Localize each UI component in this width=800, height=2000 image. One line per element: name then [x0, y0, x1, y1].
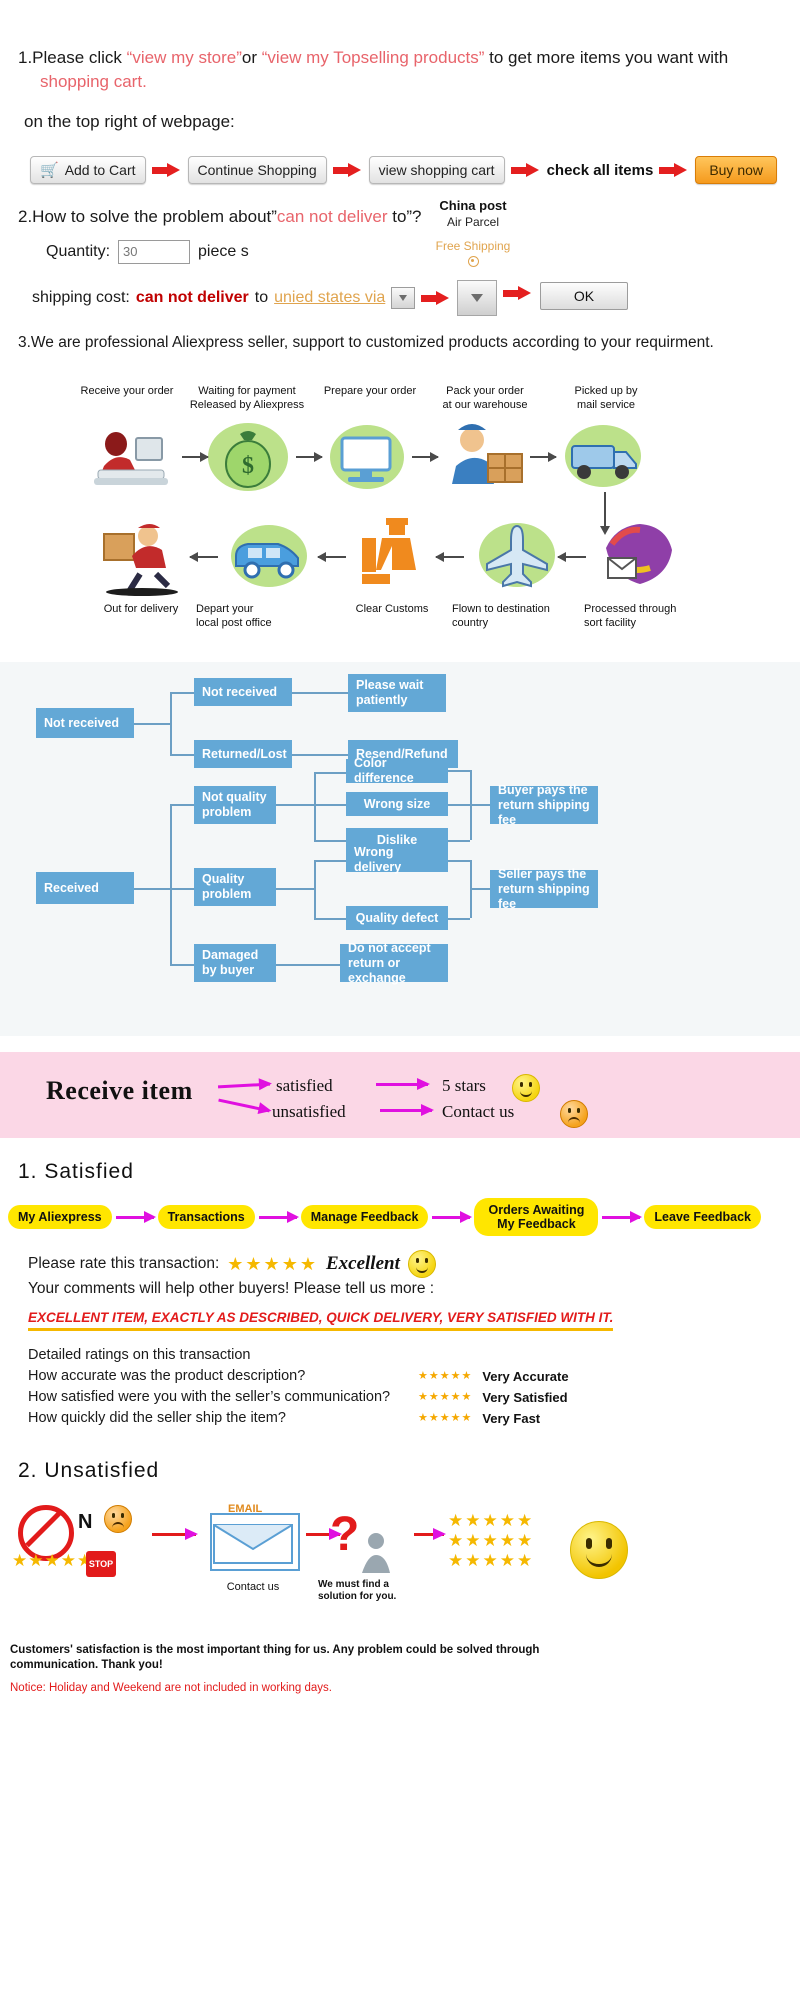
ok-label: OK: [574, 288, 594, 304]
unsatisfied-row: ★★★★★ N STOP EMAIL Contact us ? We must …: [0, 1489, 800, 1639]
detail-value-2: Very Fast: [482, 1408, 540, 1429]
fc-line-26: [448, 860, 470, 862]
star-row-2: ★★★★★: [448, 1551, 534, 1571]
star-row-0: ★★★★★: [448, 1511, 534, 1531]
section1-text-pre: 1.Please click: [18, 48, 127, 67]
check-all-items-label: check all items: [547, 162, 654, 179]
page-root: 1.Please click “view my store”or “view m…: [0, 0, 800, 2000]
worried-face-icon: [104, 1505, 132, 1533]
fc-line-10: [170, 888, 194, 890]
table-row: How satisfied were you with the seller’s…: [28, 1387, 800, 1408]
flow-arrow-2: [296, 456, 322, 458]
star-row-1: ★★★★★: [448, 1531, 534, 1551]
fc-line-22: [276, 888, 314, 890]
fc-line-6: [292, 754, 348, 756]
fc-color-difference: Color difference: [346, 759, 448, 783]
free-shipping-label: Free Shipping: [418, 239, 528, 253]
fc-line-27: [448, 918, 470, 920]
fc-line-2: [170, 692, 172, 754]
detail-question-2: How quickly did the seller ship the item…: [28, 1408, 418, 1429]
unsat-arrow-3: [414, 1533, 444, 1536]
flow-label-bottom-0: Out for delivery: [76, 602, 206, 616]
fc-line-8: [170, 804, 172, 964]
fc-received-root: Received: [36, 872, 134, 904]
solution-text: We must find a solution for you.: [318, 1579, 408, 1603]
table-row: How quickly did the seller ship the item…: [28, 1408, 800, 1429]
banner-unsatisfied: unsatisfied: [272, 1102, 346, 1122]
arrow-right-icon-2: [333, 163, 363, 177]
unsat-star-grid: ★★★★★ ★★★★★ ★★★★★: [448, 1511, 534, 1571]
detail-stars-0: ★★★★★: [418, 1371, 472, 1382]
banner-satisfied: satisfied: [276, 1076, 333, 1096]
rate-label: Please rate this transaction:: [28, 1253, 219, 1275]
step-my-aliexpress[interactable]: My Aliexpress: [8, 1205, 112, 1229]
fc-line-15: [314, 804, 346, 806]
fc-quality-defect: Quality defect: [346, 906, 448, 930]
receive-item-banner: Receive item satisfied unsatisfied 5 sta…: [0, 1052, 800, 1138]
arrow-right-icon-3: [511, 163, 541, 177]
view-cart-label: view shopping cart: [379, 162, 495, 178]
step-arrow-3: [432, 1216, 470, 1219]
comment-text: EXCELLENT ITEM, EXACTLY AS DESCRIBED, QU…: [28, 1310, 613, 1331]
detail-stars-1: ★★★★★: [418, 1392, 472, 1403]
flow-arrow-6: [318, 556, 346, 558]
arrow-right-icon-6: [503, 286, 533, 300]
fc-line-12: [276, 804, 314, 806]
shipping-flow-diagram: $: [0, 374, 800, 654]
fc-not-received-2: Not received: [194, 678, 292, 706]
letter-n-label: N: [78, 1511, 92, 1534]
rating-block: Please rate this transaction: ★★★★★ Exce…: [28, 1250, 800, 1429]
step-arrow-1: [116, 1216, 154, 1219]
eye-right-4: [606, 1538, 612, 1549]
flow-arrow-7: [436, 556, 464, 558]
fc-seller-pays: Seller pays the return shipping fee: [490, 870, 598, 908]
section1-mid: or: [242, 48, 262, 67]
banner-arrow-2: [218, 1099, 269, 1113]
fc-line-30: [276, 964, 340, 966]
fc-quality-problem: Quality problem: [194, 868, 276, 906]
fc-line-21: [470, 804, 490, 806]
monitor-icon: [326, 422, 408, 497]
banner-arrow-3: [376, 1083, 428, 1086]
section1-shopping-cart-text: shopping cart.: [18, 70, 800, 94]
detailed-ratings-table: Detailed ratings on this transaction How…: [28, 1345, 800, 1429]
buy-now-button[interactable]: Buy now: [695, 156, 777, 184]
feedback-steps-bar: My Aliexpress Transactions Manage Feedba…: [8, 1198, 800, 1236]
section2-q-post: to”?: [388, 207, 422, 226]
detail-stars-2: ★★★★★: [418, 1413, 472, 1424]
footer-notes: Customers' satisfaction is the most impo…: [10, 1643, 800, 1696]
footer-notice: Notice: Holiday and Weekend are not incl…: [10, 1681, 800, 1696]
shopping-cart-icon: 🛒: [40, 163, 59, 178]
link-view-my-store[interactable]: “view my store”: [127, 48, 242, 67]
detailed-ratings-title: Detailed ratings on this transaction: [28, 1345, 418, 1366]
van-icon: [226, 522, 312, 597]
eye-left-2: [416, 1258, 419, 1263]
footer-line-1: Customers' satisfaction is the most impo…: [10, 1643, 800, 1658]
mail-truck-icon: [560, 422, 646, 497]
customs-officer-icon: [356, 516, 432, 599]
running-courier-icon: [96, 520, 186, 601]
email-envelope-icon: [210, 1513, 300, 1571]
flow-label-top-2: Prepare your order: [300, 384, 440, 398]
mouth-2: [416, 1264, 428, 1273]
detail-question-1: How satisfied were you with the seller’s…: [28, 1387, 418, 1408]
step-leave-feedback[interactable]: Leave Feedback: [644, 1205, 761, 1229]
continue-shopping-label: Continue Shopping: [198, 162, 317, 178]
quantity-row: Quantity: 30 piece s: [18, 240, 800, 264]
svg-text:$: $: [242, 453, 254, 479]
section1-line3: on the top right of webpage:: [18, 110, 800, 134]
flow-arrow-8: [558, 556, 586, 558]
eye-left: [520, 1082, 523, 1087]
quantity-input[interactable]: 30: [118, 240, 190, 264]
flow-arrow-5: [190, 556, 218, 558]
section2-q-pre: 2.How to solve the problem about”: [18, 207, 277, 226]
fc-line-5: [292, 692, 348, 694]
flow-label-top-3: Pack your order at our warehouse: [420, 384, 550, 412]
mouth: [520, 1088, 532, 1097]
unsat-arrow-1: [152, 1533, 196, 1536]
mouth-4: [586, 1550, 612, 1567]
fc-line-14: [314, 772, 346, 774]
fc-damaged-by-buyer: Damaged by buyer: [194, 944, 276, 982]
detail-value-0: Very Accurate: [482, 1366, 568, 1387]
airplane-icon: [474, 520, 560, 597]
excellent-smiley-icon: [408, 1250, 436, 1278]
fc-line-16: [314, 840, 346, 842]
comments-prompt: Your comments will help other buyers! Pl…: [28, 1278, 800, 1300]
step-arrow-2: [259, 1216, 297, 1219]
footer-line-2: communication. Thank you!: [10, 1658, 800, 1673]
fc-line-11: [170, 964, 194, 966]
link-view-topselling[interactable]: “view my Topselling products”: [262, 48, 485, 67]
problem-flowchart: Not received Not received Returned/Lost …: [0, 662, 800, 1036]
piece-label: piece s: [198, 243, 249, 261]
eye-left-3: [112, 1513, 115, 1518]
view-shopping-cart-button[interactable]: view shopping cart: [369, 156, 505, 184]
step-orders-awaiting[interactable]: Orders Awaiting My Feedback: [474, 1198, 598, 1236]
rate-line: Please rate this transaction: ★★★★★ Exce…: [28, 1250, 800, 1278]
receive-item-title: Receive item: [46, 1076, 193, 1106]
shipping-cost-row: shipping cost:can not deliver to unied s…: [18, 280, 800, 316]
country-dropdown-small[interactable]: [391, 287, 415, 309]
banner-contact-us: Contact us: [442, 1102, 514, 1122]
ok-button[interactable]: OK: [540, 282, 628, 310]
fc-no-return: Do not accept return or exchange: [340, 944, 448, 982]
fc-line-7: [134, 888, 170, 890]
fc-line-3: [170, 692, 194, 694]
email-label: EMAIL: [228, 1503, 262, 1515]
flow-label-bottom-3: Flown to destination country: [452, 602, 582, 630]
flow-label-bottom-4: Processed through sort facility: [584, 602, 714, 630]
aliexpress-button-bar: 🛒 Add to Cart Continue Shopping view sho…: [18, 156, 800, 184]
banner-arrow-4: [380, 1109, 432, 1112]
fc-line-23: [314, 860, 316, 918]
section-2: 2.How to solve the problem about”can not…: [0, 184, 800, 316]
sorting-mail-icon: [596, 518, 678, 595]
satisfied-heading: 1. Satisfied: [18, 1160, 800, 1184]
fc-line-18: [448, 804, 470, 806]
fc-please-wait: Please wait patiently: [348, 674, 446, 712]
section2-q-red: can not deliver: [277, 207, 388, 226]
shipping-cost-label: shipping cost:: [32, 289, 130, 307]
mouth-sad: [568, 1117, 580, 1126]
eye-left-sad: [568, 1108, 571, 1113]
unsat-contact-us-label: Contact us: [208, 1581, 298, 1593]
chevron-down-icon-small: [399, 295, 407, 301]
buy-now-label: Buy now: [709, 162, 763, 178]
worker-package-icon: [440, 418, 530, 497]
arrow-right-icon-1: [152, 163, 182, 177]
fc-not-received-root: Not received: [36, 708, 134, 738]
fc-line-29: [470, 888, 490, 890]
flow-label-bottom-1: Depart your local post office: [196, 602, 326, 630]
flow-label-top-4: Picked up by mail service: [546, 384, 666, 412]
ship-country-link[interactable]: unied states via: [274, 289, 385, 307]
table-row: How accurate was the product description…: [28, 1366, 800, 1387]
detailed-ratings-title-row: Detailed ratings on this transaction: [28, 1345, 800, 1366]
arrow-right-icon-5: [421, 291, 451, 305]
fc-not-quality-problem: Not quality problem: [194, 786, 276, 824]
unsatisfied-heading: 2. Unsatisfied: [18, 1459, 800, 1483]
arrow-right-icon-4: [659, 163, 689, 177]
happy-face-icon: [512, 1074, 540, 1102]
fc-line-1: [134, 723, 170, 725]
section-1: 1.Please click “view my store”or “view m…: [0, 0, 800, 184]
section-3-text: 3.We are professional Aliexpress seller,…: [0, 316, 800, 352]
quantity-label: Quantity:: [46, 243, 110, 261]
country-dropdown-large[interactable]: [457, 280, 497, 316]
continue-shopping-button[interactable]: Continue Shopping: [188, 156, 327, 184]
add-to-cart-label: Add to Cart: [65, 162, 136, 178]
china-post-block: China post Air Parcel Free Shipping: [418, 198, 528, 267]
free-shipping-radio[interactable]: [468, 256, 479, 267]
flow-arrow-4: [530, 456, 556, 458]
money-bag-icon: $: [204, 420, 292, 499]
fc-line-24: [314, 860, 346, 862]
fc-line-25: [314, 918, 346, 920]
low-rating-stars: ★★★★★: [12, 1551, 93, 1571]
computer-person-icon: [86, 422, 178, 497]
section1-text-post: to get more items you want with: [484, 48, 728, 67]
flow-arrow-3: [412, 456, 438, 458]
step-transactions[interactable]: Transactions: [158, 1205, 255, 1229]
ship-to-text: to: [255, 289, 268, 307]
fc-wrong-size: Wrong size: [346, 792, 448, 816]
fc-line-9: [170, 804, 194, 806]
fc-line-17: [448, 770, 470, 772]
fc-buyer-pays: Buyer pays the return shipping fee: [490, 786, 598, 824]
thinking-person-icon: [352, 1529, 400, 1577]
stop-label: STOP: [89, 1559, 113, 1569]
step-manage-feedback[interactable]: Manage Feedback: [301, 1205, 429, 1229]
chevron-down-icon-large: [471, 294, 483, 302]
section1-line1: 1.Please click “view my store”or “view m…: [18, 46, 800, 70]
stop-sign-icon: STOP: [86, 1551, 116, 1577]
sad-face-icon: [560, 1100, 588, 1128]
fc-line-19: [448, 840, 470, 842]
rating-stars[interactable]: ★★★★★: [227, 1255, 318, 1273]
eye-right: [529, 1082, 532, 1087]
flow-label-bottom-2: Clear Customs: [332, 602, 452, 616]
detail-value-1: Very Satisfied: [482, 1387, 567, 1408]
eye-right-sad: [577, 1108, 580, 1113]
mouth-3: [112, 1522, 124, 1531]
step-arrow-4: [602, 1216, 640, 1219]
section2-question: 2.How to solve the problem about”can not…: [18, 204, 800, 230]
banner-5-stars: 5 stars: [442, 1076, 486, 1096]
fc-line-13: [314, 772, 316, 840]
eye-right-2: [425, 1258, 428, 1263]
big-smiley-icon: [570, 1521, 628, 1579]
eye-right-3: [121, 1513, 124, 1518]
eye-left-4: [586, 1538, 592, 1549]
fc-line-4: [170, 754, 194, 756]
detail-question-0: How accurate was the product description…: [28, 1366, 418, 1387]
add-to-cart-button[interactable]: 🛒 Add to Cart: [30, 156, 146, 184]
fc-returned-lost: Returned/Lost: [194, 740, 292, 768]
china-post-title: China post: [418, 198, 528, 213]
flow-arrow-1: [182, 456, 208, 458]
cannot-deliver-text: can not deliver: [136, 289, 249, 307]
fc-wrong-delivery: Wrong delivery: [346, 848, 448, 872]
banner-arrow-1: [218, 1083, 270, 1089]
excellent-label: Excellent: [326, 1253, 400, 1275]
air-parcel-label: Air Parcel: [418, 215, 528, 229]
